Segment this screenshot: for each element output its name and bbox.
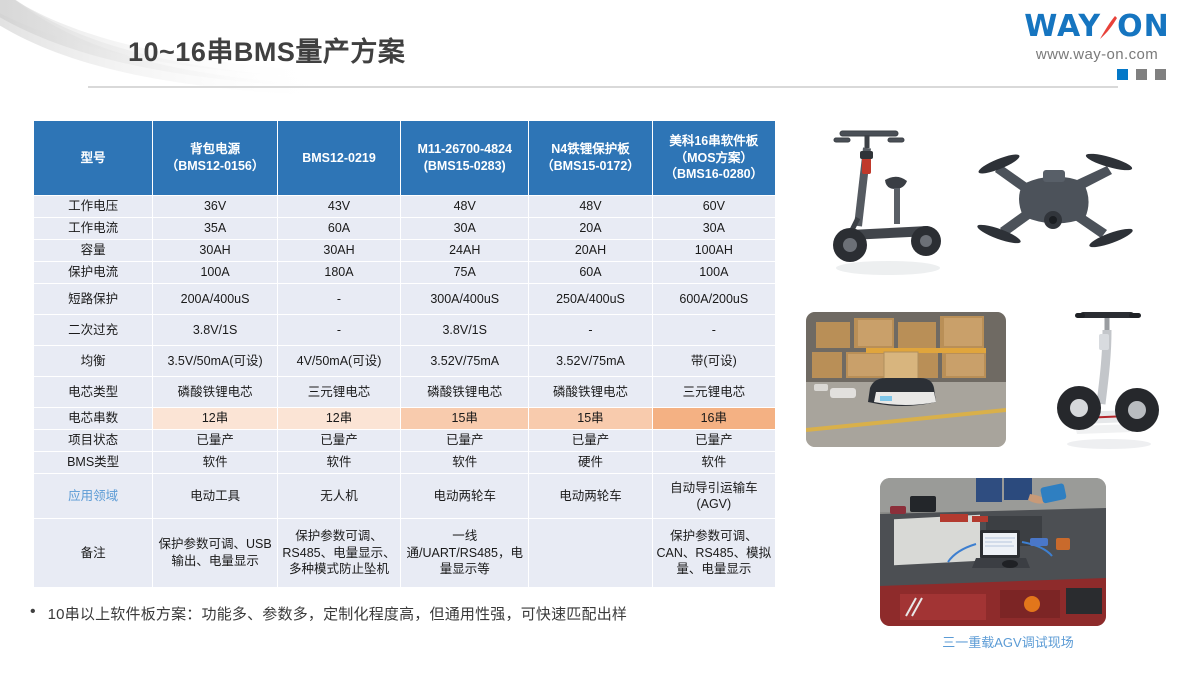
warehouse-agv-photo xyxy=(806,312,1006,447)
table-row: 项目状态已量产已量产已量产已量产已量产 xyxy=(34,430,775,451)
table-cell: 已量产 xyxy=(278,430,400,451)
table-cell: 100A xyxy=(153,262,277,283)
table-cell: 35A xyxy=(153,218,277,239)
col-header-3: M11-26700-4824(BMS15-0283) xyxy=(401,121,528,195)
table-row: 电芯类型磷酸铁锂电芯三元锂电芯磷酸铁锂电芯磷酸铁锂电芯三元锂电芯 xyxy=(34,377,775,407)
table-cell: 软件 xyxy=(278,452,400,473)
table-row: 工作电压36V43V48V48V60V xyxy=(34,196,775,217)
table-cell: 200A/400uS xyxy=(153,284,277,314)
logo-wordmark: WAY ON xyxy=(1012,12,1182,42)
table-cell: 600A/200uS xyxy=(653,284,775,314)
row-label: 均衡 xyxy=(34,346,152,376)
row-label: 工作电压 xyxy=(34,196,152,217)
table-cell: 60V xyxy=(653,196,775,217)
table-cell: 60A xyxy=(278,218,400,239)
table-row: 二次过充3.8V/1S-3.8V/1S-- xyxy=(34,315,775,345)
col-header-0: 型号 xyxy=(34,121,152,195)
agv-debug-photo xyxy=(880,478,1106,626)
row-label: 项目状态 xyxy=(34,430,152,451)
table-cell: 带(可设) xyxy=(653,346,775,376)
table-cell: 43V xyxy=(278,196,400,217)
logo-square-3 xyxy=(1155,69,1166,80)
table-cell: 300A/400uS xyxy=(401,284,528,314)
row-label: 二次过充 xyxy=(34,315,152,345)
table-row: 应用领域电动工具无人机电动两轮车电动两轮车自动导引运输车(AGV) xyxy=(34,474,775,518)
table-row: 工作电流35A60A30A20A30A xyxy=(34,218,775,239)
col-header-4: N4铁锂保护板（BMS15-0172） xyxy=(529,121,651,195)
table-cell xyxy=(529,519,651,587)
table-cell: 软件 xyxy=(401,452,528,473)
drone-photo xyxy=(965,128,1140,273)
table-row: BMS类型软件软件软件硬件软件 xyxy=(34,452,775,473)
table-cell: - xyxy=(529,315,651,345)
table-cell: 30A xyxy=(401,218,528,239)
table-cell: 磷酸铁锂电芯 xyxy=(401,377,528,407)
bullet-marker-icon: • xyxy=(30,603,36,621)
table-cell: 180A xyxy=(278,262,400,283)
row-label: 备注 xyxy=(34,519,152,587)
logo-squares xyxy=(1012,69,1182,80)
row-label: 电芯串数 xyxy=(34,408,152,429)
table-header-row: 型号 背包电源（BMS12-0156） BMS12-0219 M11-26700… xyxy=(34,121,775,195)
table-cell: 20A xyxy=(529,218,651,239)
table-row: 容量30AH30AH24AH20AH100AH xyxy=(34,240,775,261)
bms-spec-table: 型号 背包电源（BMS12-0156） BMS12-0219 M11-26700… xyxy=(33,120,776,588)
row-label: 容量 xyxy=(34,240,152,261)
table-cell: 30AH xyxy=(153,240,277,261)
table-cell: 15串 xyxy=(401,408,528,429)
table-cell: 20AH xyxy=(529,240,651,261)
col-header-1: 背包电源（BMS12-0156） xyxy=(153,121,277,195)
table-cell: 36V xyxy=(153,196,277,217)
table-row: 备注保护参数可调、USB输出、电量显示保护参数可调、RS485、电量显示、多种模… xyxy=(34,519,775,587)
table-cell: 硬件 xyxy=(529,452,651,473)
row-label: 工作电流 xyxy=(34,218,152,239)
table-cell: 软件 xyxy=(153,452,277,473)
table-cell: 无人机 xyxy=(278,474,400,518)
electric-scooter-photo xyxy=(810,118,960,278)
table-cell: 已量产 xyxy=(653,430,775,451)
table-cell: 保护参数可调、CAN、RS485、模拟量、电量显示 xyxy=(653,519,775,587)
logo-square-1 xyxy=(1117,69,1128,80)
table-cell: 保护参数可调、RS485、电量显示、多种模式防止坠机 xyxy=(278,519,400,587)
table-cell: 30AH xyxy=(278,240,400,261)
table-cell: 24AH xyxy=(401,240,528,261)
table-cell: - xyxy=(278,284,400,314)
table-cell: 100A xyxy=(653,262,775,283)
brand-logo: WAY ON www.way-on.com xyxy=(1012,12,1182,80)
table-cell: 三元锂电芯 xyxy=(653,377,775,407)
table-cell: 自动导引运输车(AGV) xyxy=(653,474,775,518)
table-cell: 4V/50mA(可设) xyxy=(278,346,400,376)
table-cell: 15串 xyxy=(529,408,651,429)
table-cell: 已量产 xyxy=(401,430,528,451)
table-cell: 48V xyxy=(401,196,528,217)
table-cell: 3.5V/50mA(可设) xyxy=(153,346,277,376)
table-cell: 3.8V/1S xyxy=(401,315,528,345)
table-cell: 一线通/UART/RS485，电量显示等 xyxy=(401,519,528,587)
table-cell: 磷酸铁锂电芯 xyxy=(153,377,277,407)
table-row: 电芯串数12串12串15串15串16串 xyxy=(34,408,775,429)
table-cell: 3.52V/75mA xyxy=(529,346,651,376)
col-header-2: BMS12-0219 xyxy=(278,121,400,195)
table-cell: 100AH xyxy=(653,240,775,261)
logo-text-on: ON xyxy=(1117,12,1170,42)
row-label: BMS类型 xyxy=(34,452,152,473)
table-cell: 48V xyxy=(529,196,651,217)
table-cell: 电动两轮车 xyxy=(401,474,528,518)
photo-caption: 三一重载AGV调试现场 xyxy=(898,632,1118,651)
title-divider xyxy=(88,86,1118,88)
table-cell: - xyxy=(278,315,400,345)
table-cell: 12串 xyxy=(278,408,400,429)
table-cell: 电动两轮车 xyxy=(529,474,651,518)
logo-url: www.way-on.com xyxy=(1012,46,1182,63)
table-row: 短路保护200A/400uS-300A/400uS250A/400uS600A/… xyxy=(34,284,775,314)
table-cell: 保护参数可调、USB输出、电量显示 xyxy=(153,519,277,587)
table-cell: 12串 xyxy=(153,408,277,429)
summary-bullet: • 10串以上软件板方案：功能多、参数多，定制化程度高，但通用性强，可快速匹配出… xyxy=(30,603,627,624)
table-cell: 电动工具 xyxy=(153,474,277,518)
row-label: 保护电流 xyxy=(34,262,152,283)
table-cell: 60A xyxy=(529,262,651,283)
row-label: 电芯类型 xyxy=(34,377,152,407)
row-label: 短路保护 xyxy=(34,284,152,314)
table-row: 保护电流100A180A75A60A100A xyxy=(34,262,775,283)
table-cell: 软件 xyxy=(653,452,775,473)
col-header-5: 美科16串软件板（MOS方案）（BMS16-0280） xyxy=(653,121,775,195)
table-cell: 已量产 xyxy=(529,430,651,451)
table-cell: 250A/400uS xyxy=(529,284,651,314)
table-cell: 16串 xyxy=(653,408,775,429)
table-cell: 30A xyxy=(653,218,775,239)
table-cell: 已量产 xyxy=(153,430,277,451)
logo-square-2 xyxy=(1136,69,1147,80)
table-cell: 3.52V/75mA xyxy=(401,346,528,376)
segway-photo xyxy=(1055,300,1165,455)
logo-swoosh-icon xyxy=(1101,13,1117,41)
row-label: 应用领域 xyxy=(34,474,152,518)
table-row: 均衡3.5V/50mA(可设)4V/50mA(可设)3.52V/75mA3.52… xyxy=(34,346,775,376)
table-cell: 三元锂电芯 xyxy=(278,377,400,407)
logo-text-way: WAY xyxy=(1024,12,1101,42)
table-cell: 磷酸铁锂电芯 xyxy=(529,377,651,407)
table-cell: 3.8V/1S xyxy=(153,315,277,345)
page-title: 10~16串BMS量产方案 xyxy=(128,30,405,69)
table-cell: 75A xyxy=(401,262,528,283)
table-cell: - xyxy=(653,315,775,345)
bullet-text: 10串以上软件板方案：功能多、参数多，定制化程度高，但通用性强，可快速匹配出样 xyxy=(48,603,628,624)
